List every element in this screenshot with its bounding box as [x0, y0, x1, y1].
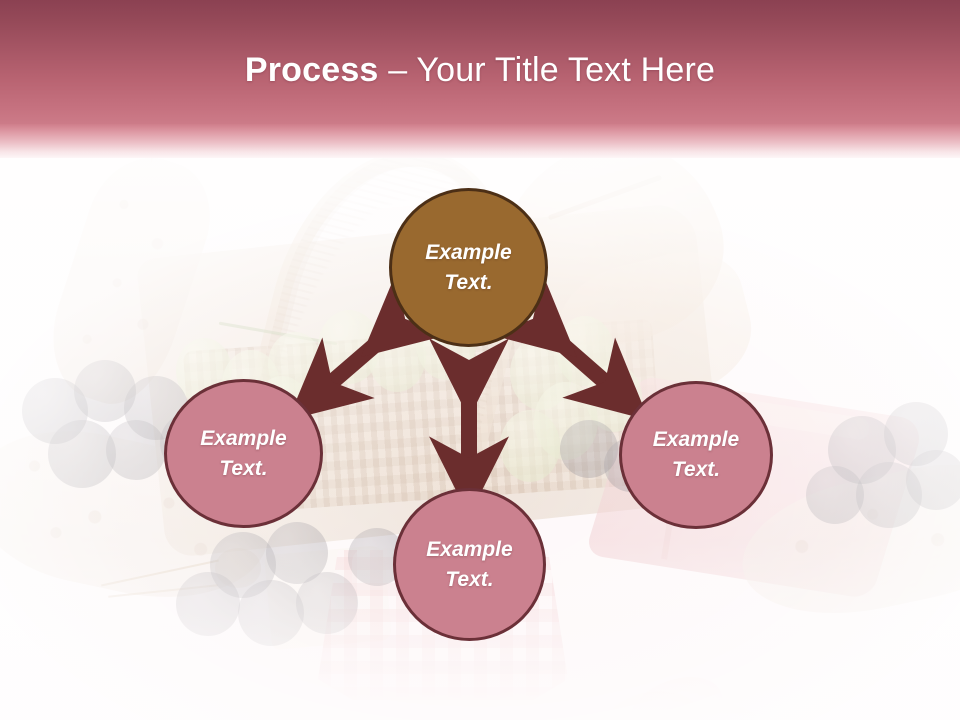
node-left-line1: Example — [200, 424, 286, 454]
process-node-right[interactable]: Example Text. — [619, 381, 773, 529]
node-right-line1: Example — [653, 425, 739, 455]
process-node-bottom[interactable]: Example Text. — [393, 488, 546, 641]
node-bottom-line1: Example — [426, 535, 512, 565]
arrow-top-left — [317, 332, 390, 395]
node-left-line2: Text. — [200, 454, 286, 484]
node-top-line2: Text. — [425, 268, 511, 298]
node-top-line1: Example — [425, 238, 511, 268]
node-bottom-line2: Text. — [426, 565, 512, 595]
process-node-top[interactable]: Example Text. — [389, 188, 548, 347]
node-right-line2: Text. — [653, 455, 739, 485]
process-diagram: Example Text. Example Text. Example Text… — [0, 0, 960, 720]
slide: Process – Your Title Text Here — [0, 0, 960, 720]
arrow-top-right — [548, 332, 620, 395]
process-node-left[interactable]: Example Text. — [164, 379, 323, 528]
